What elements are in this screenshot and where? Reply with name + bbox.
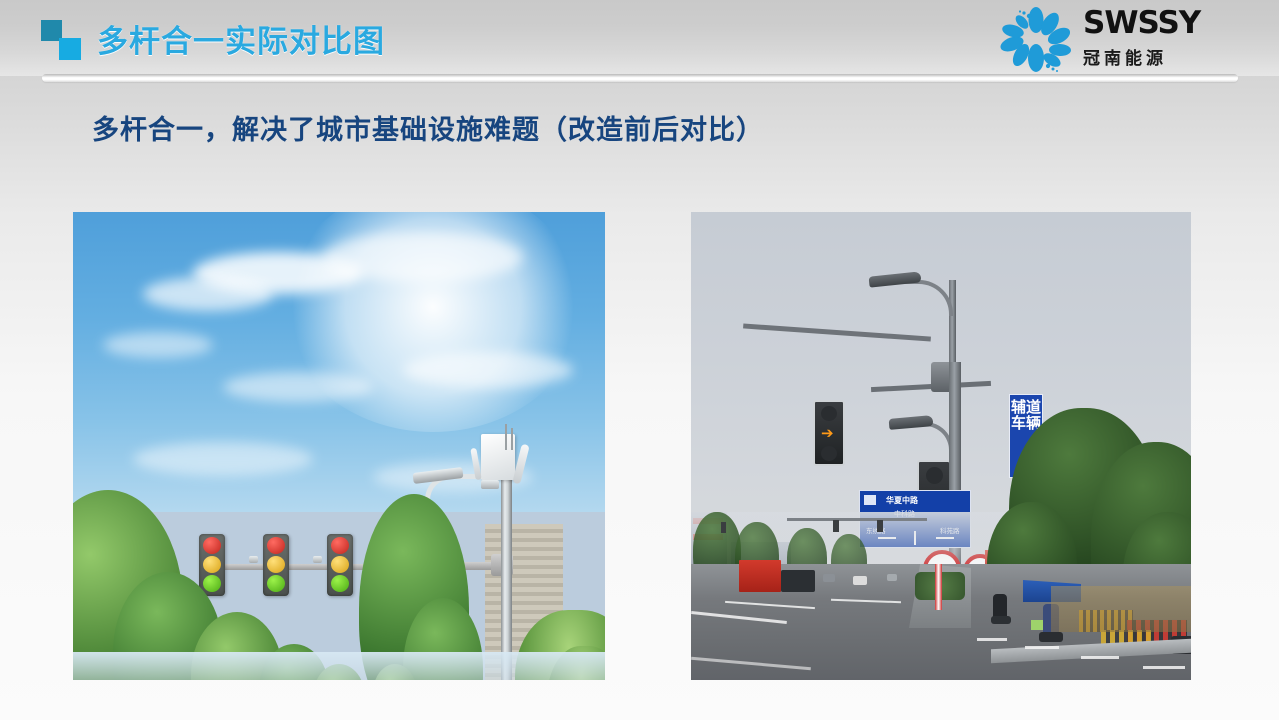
logo-wordmark: SWSSY 冠南能源 bbox=[1083, 8, 1200, 69]
cloud bbox=[103, 332, 213, 358]
lane-dash bbox=[1025, 646, 1059, 649]
antenna-whip bbox=[511, 428, 513, 450]
signal-lamp-off bbox=[821, 446, 837, 461]
cloud bbox=[143, 277, 273, 311]
vehicle bbox=[781, 570, 815, 592]
traffic-light-green bbox=[331, 575, 349, 592]
scooter bbox=[991, 616, 1011, 624]
vehicle bbox=[823, 574, 835, 582]
fence-wall bbox=[1051, 586, 1191, 632]
logo-brand-en: SWSSY bbox=[1083, 8, 1200, 39]
cloud bbox=[133, 442, 313, 476]
signal-lamp-off bbox=[926, 467, 943, 484]
lane-dash bbox=[1081, 656, 1119, 659]
traffic-light-arrow-upper: ➔ bbox=[813, 400, 845, 466]
company-logo: SWSSY 冠南能源 bbox=[999, 4, 1259, 76]
comparison-image-after-rendering: 区域中路 区域中路 bbox=[73, 212, 605, 680]
bicycle bbox=[1039, 632, 1063, 642]
vehicle bbox=[853, 576, 867, 585]
traffic-light-head bbox=[327, 534, 353, 596]
traffic-light-red bbox=[267, 537, 285, 554]
sign-pictogram bbox=[864, 495, 876, 505]
far-traffic-light bbox=[833, 520, 839, 532]
header-square-decoration bbox=[41, 20, 87, 62]
traffic-light-yellow bbox=[331, 556, 349, 573]
lane-dash bbox=[977, 638, 1007, 641]
carried-bag bbox=[1031, 620, 1043, 630]
slide-subtitle: 多杆合一，解决了城市基础设施难题（改造前后对比） bbox=[92, 108, 764, 147]
comparison-image-before-photo: ➔ ➔ 辅道车辆 华夏中路 中科路 东绣路 科苑路 ✔ 🚲 ✔ bbox=[691, 212, 1191, 680]
vehicle bbox=[887, 574, 897, 581]
5g-antenna-cabinet bbox=[481, 434, 515, 480]
logo-brand-cn: 冠南能源 bbox=[1083, 44, 1200, 69]
antenna-whip bbox=[505, 424, 507, 450]
decoration-square-light bbox=[59, 38, 81, 60]
signal-mini-camera bbox=[313, 556, 322, 563]
page-title: 多杆合一实际对比图 bbox=[97, 16, 385, 61]
slide-header: 多杆合一实际对比图 bbox=[0, 0, 1279, 82]
right-turn-arrow-icon: ➔ bbox=[821, 426, 834, 441]
traffic-light-yellow bbox=[203, 556, 221, 573]
traffic-light-green bbox=[267, 575, 285, 592]
traffic-light-head bbox=[263, 534, 289, 596]
red-truck bbox=[739, 560, 781, 592]
lane-dash bbox=[1143, 666, 1185, 669]
traffic-light-head bbox=[199, 534, 225, 596]
surveillance-camera bbox=[481, 480, 499, 489]
water-droplet-flower-icon bbox=[999, 6, 1073, 74]
distance-haze bbox=[73, 652, 605, 680]
far-signal-gantry bbox=[787, 518, 927, 521]
signal-mini-camera bbox=[249, 556, 258, 563]
traffic-light-red bbox=[203, 537, 221, 554]
bollard bbox=[935, 564, 942, 610]
traffic-light-red bbox=[331, 537, 349, 554]
signal-lamp-off bbox=[821, 406, 837, 421]
traffic-light-yellow bbox=[267, 556, 285, 573]
far-traffic-light bbox=[877, 520, 883, 532]
far-traffic-light bbox=[721, 522, 726, 533]
traffic-light-green bbox=[203, 575, 221, 592]
